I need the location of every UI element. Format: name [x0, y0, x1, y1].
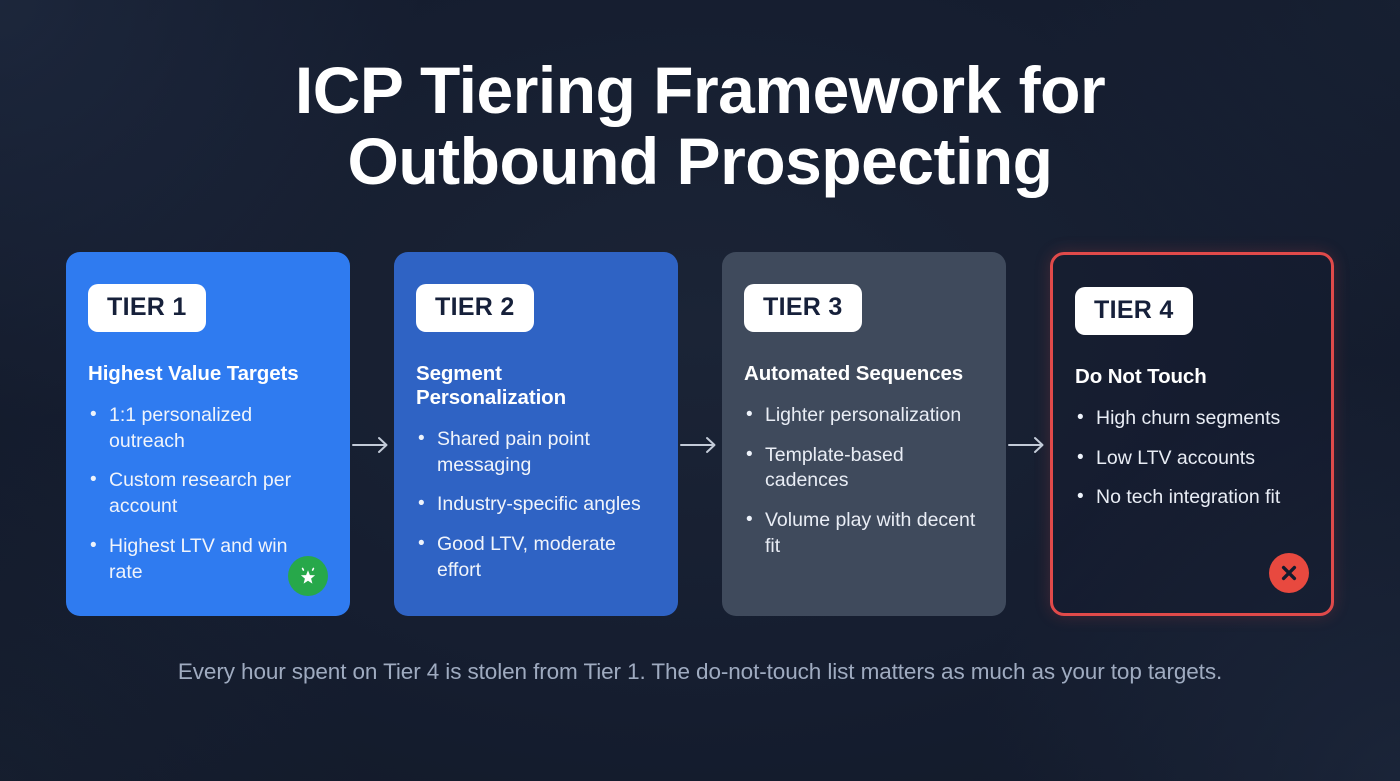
tier-card-4[interactable]: TIER 4 Do Not Touch High churn segments … [1050, 252, 1334, 616]
arrow-right-icon [1008, 434, 1052, 456]
tier-cards-row: TIER 1 Highest Value Targets 1:1 persona… [66, 252, 1334, 616]
list-item: 1:1 personalized outreach [88, 403, 324, 454]
list-item: Volume play with decent fit [744, 508, 980, 559]
tier-card-1[interactable]: TIER 1 Highest Value Targets 1:1 persona… [66, 252, 350, 616]
list-item: High churn segments [1075, 406, 1305, 432]
tier-heading-4: Do Not Touch [1075, 365, 1305, 389]
tier-card-3[interactable]: TIER 3 Automated Sequences Lighter perso… [722, 252, 1006, 616]
tier-bullet-list-4: High churn segments Low LTV accounts No … [1075, 406, 1305, 511]
list-item: Custom research per account [88, 468, 324, 519]
page-title: ICP Tiering Framework for Outbound Prosp… [0, 55, 1400, 196]
tier-badge-2: TIER 2 [416, 284, 534, 332]
tier-card-2[interactable]: TIER 2 Segment Personalization Shared pa… [394, 252, 678, 616]
star-badge-icon [288, 556, 328, 596]
list-item: Good LTV, moderate effort [416, 532, 652, 583]
list-item: No tech integration fit [1075, 485, 1305, 511]
page-title-line-2: Outbound Prospecting [0, 126, 1400, 197]
list-item: Low LTV accounts [1075, 446, 1305, 472]
x-mark-icon [1269, 553, 1309, 593]
list-item: Template-based cadences [744, 443, 980, 494]
tier-badge-1: TIER 1 [88, 284, 206, 332]
arrow-right-icon [352, 434, 396, 456]
tier-badge-4: TIER 4 [1075, 287, 1193, 335]
page-title-line-1: ICP Tiering Framework for [0, 55, 1400, 126]
footer-caption: Every hour spent on Tier 4 is stolen fro… [0, 659, 1400, 685]
tier-heading-1: Highest Value Targets [88, 362, 324, 386]
list-item: Lighter personalization [744, 403, 980, 429]
tier-badge-3: TIER 3 [744, 284, 862, 332]
infographic-canvas: ICP Tiering Framework for Outbound Prosp… [0, 0, 1400, 781]
tier-bullet-list-2: Shared pain point messaging Industry-spe… [416, 427, 652, 584]
tier-heading-3: Automated Sequences [744, 362, 980, 386]
tier-bullet-list-3: Lighter personalization Template-based c… [744, 403, 980, 560]
list-item: Industry-specific angles [416, 492, 652, 518]
tier-heading-2: Segment Personalization [416, 362, 652, 410]
arrow-right-icon [680, 434, 724, 456]
list-item: Shared pain point messaging [416, 427, 652, 478]
tier-bullet-list-1: 1:1 personalized outreach Custom researc… [88, 403, 324, 585]
